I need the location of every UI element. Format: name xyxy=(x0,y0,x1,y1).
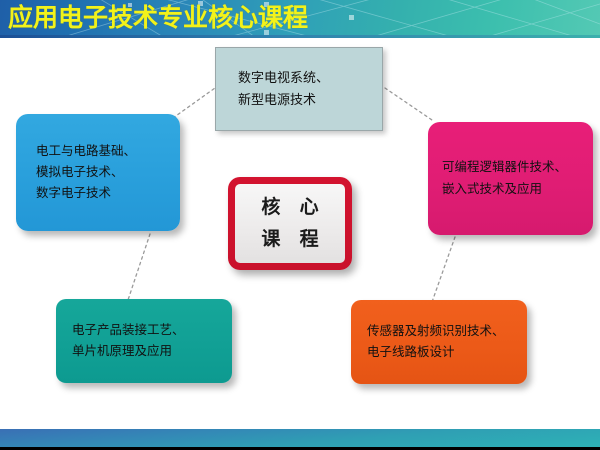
node-right-line-2: 嵌入式技术及应用 xyxy=(442,179,593,200)
node-bottom-left-line-1: 电子产品装接工艺、 xyxy=(72,320,232,341)
core-line-1: 核 心 xyxy=(254,192,325,224)
link-core-top-left xyxy=(173,88,215,118)
core-line-2: 课 程 xyxy=(254,224,325,256)
node-left-line-3: 数字电子技术 xyxy=(36,183,180,204)
node-bottom-right-line-2: 电子线路板设计 xyxy=(367,342,527,363)
node-top-line-1: 数字电视系统、 xyxy=(238,67,382,89)
core-course-node[interactable]: 核 心 课 程 xyxy=(228,177,352,270)
link-core-top-right xyxy=(385,88,432,120)
course-node-bottom-right[interactable]: 传感器及射频识别技术、 电子线路板设计 xyxy=(351,300,527,384)
slide-canvas: 应用电子技术专业核心课程 数字电视系统、 新型电源技术 电工与电路基础、 模拟电… xyxy=(0,0,600,450)
link-core-bottom-left xyxy=(128,234,150,300)
course-node-top[interactable]: 数字电视系统、 新型电源技术 xyxy=(215,47,383,131)
node-bottom-right-line-1: 传感器及射频识别技术、 xyxy=(367,321,527,342)
node-left-line-2: 模拟电子技术、 xyxy=(36,162,180,183)
course-node-left[interactable]: 电工与电路基础、 模拟电子技术、 数字电子技术 xyxy=(16,114,180,231)
node-top-line-2: 新型电源技术 xyxy=(238,89,382,111)
link-core-bottom-right xyxy=(432,237,455,302)
course-node-right[interactable]: 可编程逻辑器件技术、 嵌入式技术及应用 xyxy=(428,122,593,235)
course-node-bottom-left[interactable]: 电子产品装接工艺、 单片机原理及应用 xyxy=(56,299,232,383)
core-course-inner: 核 心 课 程 xyxy=(235,184,345,263)
footer-bar xyxy=(0,429,600,447)
node-right-line-1: 可编程逻辑器件技术、 xyxy=(442,157,593,178)
node-left-line-1: 电工与电路基础、 xyxy=(36,141,180,162)
node-bottom-left-line-2: 单片机原理及应用 xyxy=(72,341,232,362)
